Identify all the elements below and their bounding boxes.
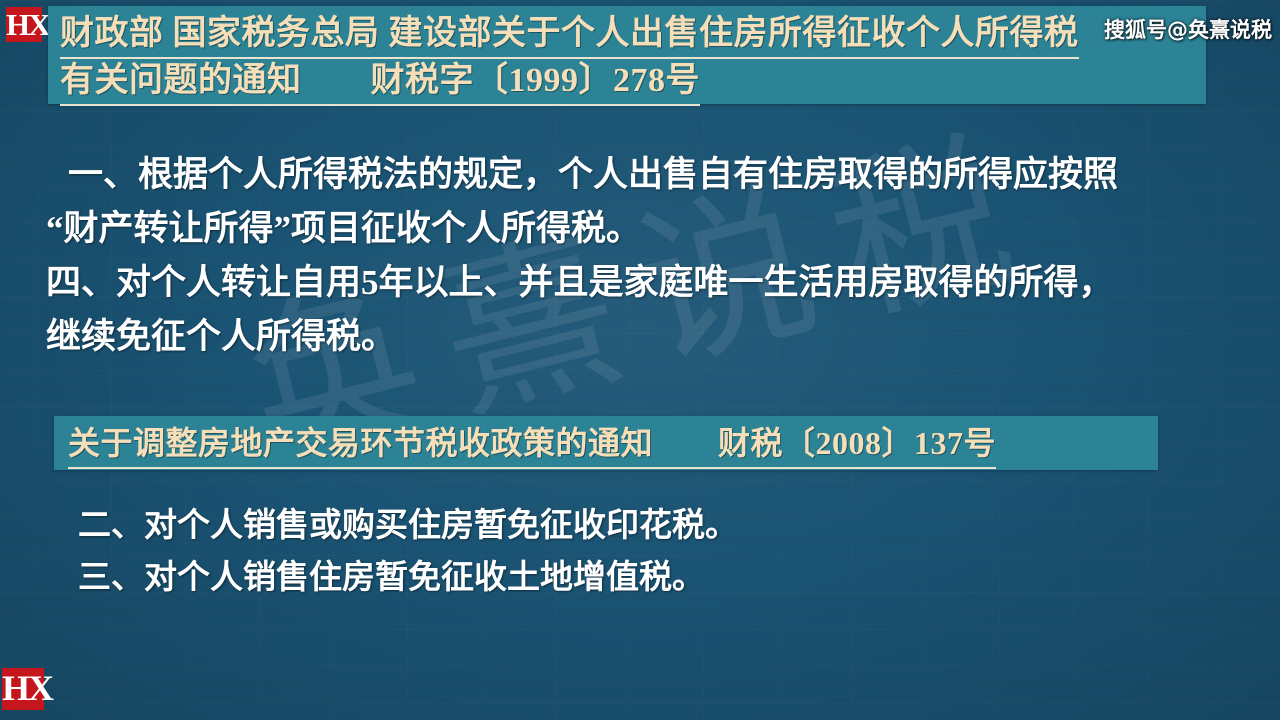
channel-watermark: 搜狐号@奂熹说税	[1104, 14, 1272, 44]
paragraph-article-four-line-1: 四、对个人转让自用5年以上、并且是家庭唯一生活用房取得的所得，	[46, 256, 1246, 310]
paragraph-article-one-line-2: “财产转让所得”项目征收个人所得税。	[46, 202, 1246, 256]
paragraph-articles-two-three: 二、对个人销售或购买住房暂免征收印花税。 三、对个人销售住房暂免征收土地增值税。	[78, 500, 1238, 604]
banner-primary-line-2: 有关问题的通知 财税字〔1999〕278号	[60, 59, 1206, 106]
slide-canvas: 奂熹说税 HX 财政部 国家税务总局 建设部关于个人出售住房所得征收个人所得税 …	[0, 0, 1280, 720]
banner-secondary-line-1-text: 关于调整房地产交易环节税收政策的通知 财税〔2008〕137号	[68, 420, 996, 469]
paragraph-article-four-line-2: 继续免征个人所得税。	[46, 310, 1246, 364]
banner-primary-line-2-text: 有关问题的通知 财税字〔1999〕278号	[60, 59, 700, 106]
logo-hx-bottom-left: HX	[2, 668, 44, 710]
title-banner-primary: 财政部 国家税务总局 建设部关于个人出售住房所得征收个人所得税 有关问题的通知 …	[48, 6, 1206, 104]
title-banner-secondary: 关于调整房地产交易环节税收政策的通知 财税〔2008〕137号	[54, 416, 1158, 470]
paragraph-article-four: 四、对个人转让自用5年以上、并且是家庭唯一生活用房取得的所得， 继续免征个人所得…	[46, 256, 1246, 364]
banner-primary-line-1: 财政部 国家税务总局 建设部关于个人出售住房所得征收个人所得税	[60, 12, 1206, 59]
paragraph-article-three: 三、对个人销售住房暂免征收土地增值税。	[78, 552, 1238, 604]
logo-hx-top-left: HX	[6, 7, 42, 42]
paragraph-article-one: 一、根据个人所得税法的规定，个人出售自有住房取得的所得应按照 “财产转让所得”项…	[46, 148, 1246, 256]
paragraph-article-one-line-1: 一、根据个人所得税法的规定，个人出售自有住房取得的所得应按照	[46, 148, 1246, 202]
banner-primary-line-1-text: 财政部 国家税务总局 建设部关于个人出售住房所得征收个人所得税	[60, 12, 1079, 59]
banner-secondary-line-1: 关于调整房地产交易环节税收政策的通知 财税〔2008〕137号	[68, 420, 1158, 469]
paragraph-article-two: 二、对个人销售或购买住房暂免征收印花税。	[78, 500, 1238, 552]
